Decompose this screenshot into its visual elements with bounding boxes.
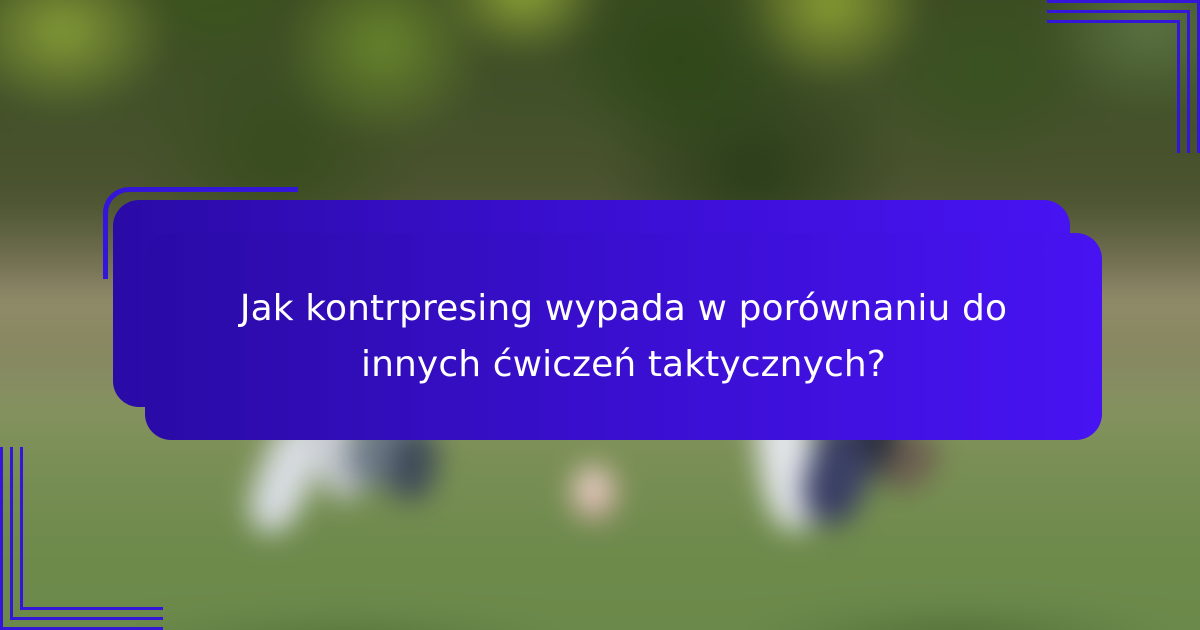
headline-card: Jak kontrpresing wypada w porównaniu do …	[145, 233, 1102, 440]
social-card-canvas: Jak kontrpresing wypada w porównaniu do …	[0, 0, 1200, 630]
headline-text: Jak kontrpresing wypada w porównaniu do …	[145, 281, 1102, 393]
background-football-ball	[572, 465, 616, 521]
